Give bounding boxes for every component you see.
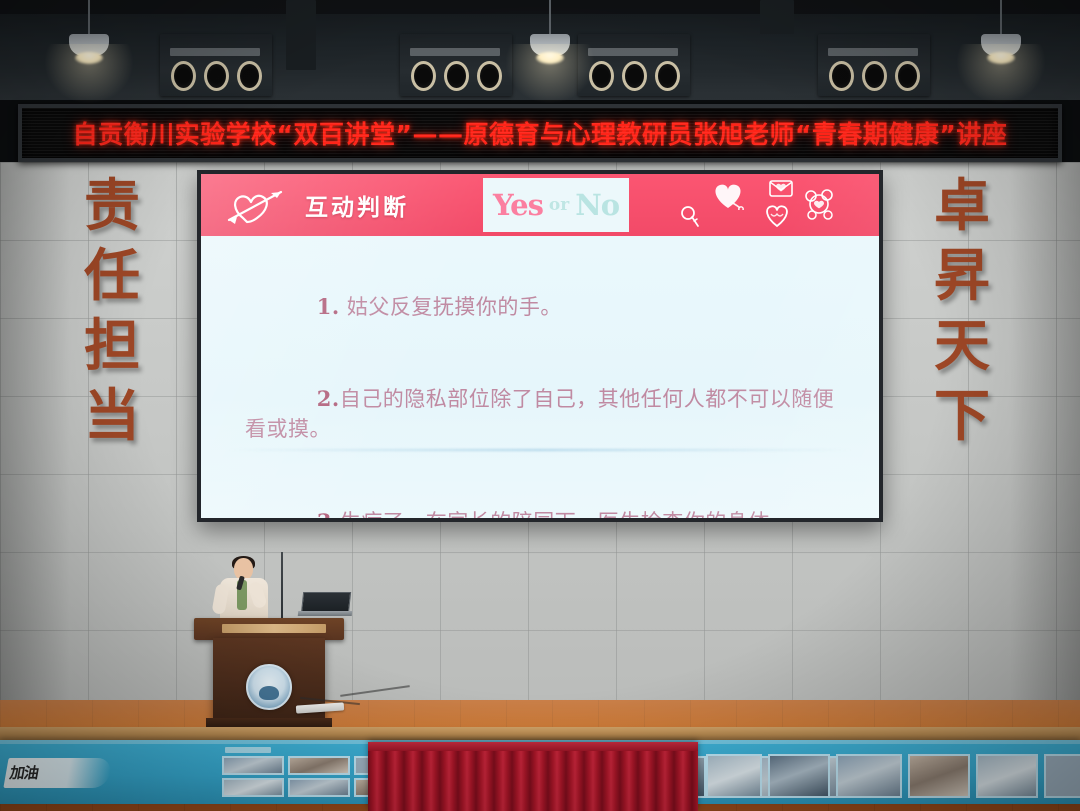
wall-calligraphy-right: 卓 昇 天 下 [934,178,990,444]
board-photo[interactable] [1044,754,1080,798]
board-photo[interactable] [836,754,902,798]
speaker-driver-icon [411,61,436,91]
badge-yes-text: Yes [493,188,543,222]
ceiling-speaker-bank [160,34,272,96]
ceiling-speaker-bank [578,34,690,96]
statement-number: 3. [317,509,340,519]
board-photo[interactable] [222,756,284,775]
calligraphy-char: 下 [934,388,990,444]
lamp-bulb-icon [987,52,1015,64]
pendant-light [549,0,551,36]
love-letter-icon [769,178,793,198]
board-group-caption [225,747,271,753]
board-photo[interactable] [768,754,830,798]
slide-body: 1. 姑父反复抚摸你的手。 2.自己的隐私部位除了自己，其他任何人都不可以随便看… [201,236,879,518]
banner-title-text: 自贡衡川实验学校“双百讲堂”——原德育与心理教研员张旭老师“青春期健康”讲座 [22,108,1058,158]
microphone-stand [281,552,283,618]
board-photo[interactable] [706,754,762,798]
calligraphy-char: 任 [84,248,140,304]
speaker-drivers [818,61,930,91]
board-photo[interactable] [908,754,970,798]
key-icon [679,204,701,230]
heart-arrow-icon [227,184,289,226]
speaker-driver-icon [477,61,502,91]
speaker-driver-icon [444,61,469,91]
podium-nameplate [222,624,326,633]
laptop-keyboard [298,611,353,616]
calligraphy-char: 卓 [934,178,990,234]
slide-statement-1: 1. 姑父反复抚摸你的手。 [245,262,849,352]
projection-screen-frame: 互动判断 Yes or No [197,170,883,522]
speaker-drivers [160,61,272,91]
statement-number: 2. [317,386,340,411]
speaker-driver-icon [204,61,229,91]
podium-top [194,618,344,640]
speaker-driver-icon [589,61,614,91]
ceiling-speaker-bank [400,34,512,96]
ceiling-beam [0,0,1080,14]
speaker-label-plate [170,48,260,56]
auditorium-scene: 自贡衡川实验学校“双百讲堂”——原德育与心理教研员张旭老师“青春期健康”讲座 责… [0,0,1080,811]
pendant-light [1000,0,1002,36]
speaker-driver-icon [862,61,887,91]
teddy-bear-icon [803,188,837,222]
slide-title: 互动判断 [305,188,409,222]
board-photo[interactable] [288,756,350,775]
ceiling [0,0,1080,100]
speaker-driver-icon [655,61,680,91]
slide-header-band: 互动判断 Yes or No [201,174,879,236]
calligraphy-char: 当 [84,388,140,444]
board-logo: 加油 [6,750,110,794]
calligraphy-char: 昇 [934,248,990,304]
slide-statement-2: 2.自己的隐私部位除了自己，其他任何人都不可以随便看或摸。 [245,354,849,474]
presenter-laptop [298,592,350,618]
speaker-label-plate [828,48,918,56]
truss-box [760,0,794,34]
wall-shadow-left [0,162,70,737]
projection-screen: 互动判断 Yes or No [201,174,879,518]
speaker-label-plate [410,48,500,56]
calligraphy-char: 担 [84,318,140,374]
badge-or-text: or [549,195,569,215]
speaker-driver-icon [895,61,920,91]
badge-no-text: No [575,188,619,222]
statement-text: 姑父反复抚摸你的手。 [340,295,562,319]
led-banner: 自贡衡川实验学校“双百讲堂”——原德育与心理教研员张旭老师“青春期健康”讲座 [18,104,1062,162]
speaker-drivers [578,61,690,91]
statement-number: 1. [317,294,340,319]
slide-statement-3: 3.生病了，在家长的陪同下，医生检查你的身体。 [245,477,849,518]
truss-box [286,0,316,70]
speaker-driver-icon [829,61,854,91]
speaker-driver-icon [622,61,647,91]
calligraphy-char: 责 [84,178,140,234]
speaker-label-plate [588,48,678,56]
ceiling-speaker-bank [818,34,930,96]
speaker-drivers [400,61,512,91]
stage-skirt-curtain [368,742,698,811]
speaker-driver-icon [171,61,196,91]
statement-text: 生病了，在家长的陪同下，医生检查你的身体。 [340,510,792,519]
heart-lock-icon [711,180,745,210]
lamp-bulb-icon [536,52,564,64]
curtain-valance [368,742,698,751]
speaker-driver-icon [237,61,262,91]
calligraphy-char: 天 [934,318,990,374]
yes-or-no-badge: Yes or No [483,178,629,232]
wall-shadow-right [1010,162,1080,737]
board-logo-text: 加油 [8,762,40,783]
board-photo[interactable] [976,754,1038,798]
board-photo[interactable] [288,778,350,797]
pendant-light [88,0,90,36]
school-emblem-icon [246,664,292,710]
board-photo[interactable] [222,778,284,797]
lamp-bulb-icon [75,52,103,64]
wall-calligraphy-left: 责 任 担 当 [84,178,140,444]
heart-doodle-icon [762,202,792,228]
